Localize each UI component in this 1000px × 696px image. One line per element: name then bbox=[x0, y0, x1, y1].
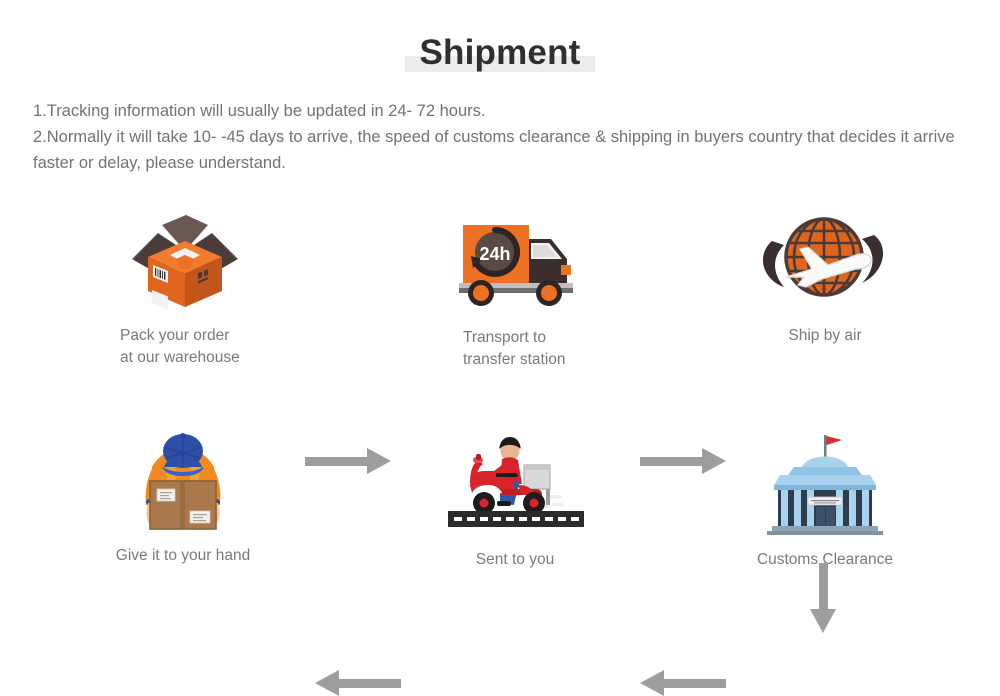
page-title: Shipment bbox=[419, 30, 580, 76]
globe-airplane-icon bbox=[750, 203, 900, 313]
page-title-section: Shipment bbox=[0, 30, 1000, 76]
arrow-air-to-customs bbox=[810, 563, 836, 631]
flow-step-customs: Customs Clearance bbox=[750, 427, 900, 571]
delivery-truck-icon: 24h bbox=[445, 205, 595, 315]
flow-step-air-label: Ship by air bbox=[750, 325, 900, 347]
flow-step-pack: Pack your order at our warehouse bbox=[110, 203, 260, 369]
shipping-note-2: 2.Normally it will take 10- -45 days to … bbox=[33, 124, 968, 176]
delivery-scooter-icon bbox=[440, 427, 590, 537]
arrow-customs-to-sent bbox=[640, 670, 726, 696]
flow-step-transport: 24h Transport to transfer station bbox=[445, 205, 595, 371]
arrow-sent-to-hand bbox=[315, 670, 401, 696]
truck-24h-label: 24h bbox=[479, 244, 510, 264]
courier-handover-icon bbox=[108, 423, 258, 533]
flow-step-hand-label: Give it to your hand bbox=[108, 545, 258, 567]
arrow-pack-to-transport bbox=[305, 448, 391, 474]
shipping-notes: 1.Tracking information will usually be u… bbox=[33, 98, 968, 176]
flow-step-air: Ship by air bbox=[750, 203, 900, 347]
arrow-transport-to-air bbox=[640, 448, 726, 474]
flow-step-sent-label: Sent to you bbox=[440, 549, 590, 571]
flow-step-hand: Give it to your hand bbox=[108, 423, 258, 567]
flow-step-transport-label: Transport to transfer station bbox=[445, 327, 595, 371]
shipment-flow-diagram: Pack your order at our warehouse 24h bbox=[0, 195, 1000, 595]
open-box-icon bbox=[110, 203, 260, 313]
flow-step-pack-label: Pack your order at our warehouse bbox=[110, 325, 260, 369]
customs-building-icon bbox=[750, 427, 900, 537]
flow-step-sent: Sent to you bbox=[440, 427, 590, 571]
shipping-note-1: 1.Tracking information will usually be u… bbox=[33, 98, 968, 124]
